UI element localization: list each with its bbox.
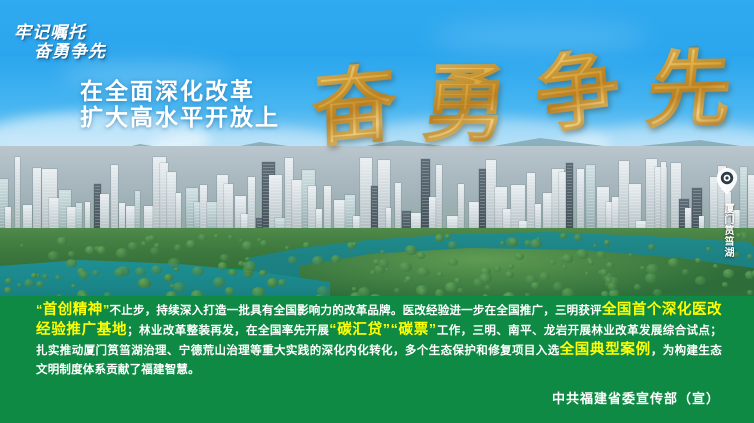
tree [500, 241, 505, 245]
copy-highlight-5: 全国典型案例 [560, 342, 651, 358]
calligraphy-char-2: 勇 [419, 62, 512, 146]
signature: 中共福建省委宣传部（宣） [552, 388, 720, 407]
tree [128, 242, 138, 250]
copy-highlight-1: 首创精神 [43, 302, 103, 318]
tree [435, 234, 444, 242]
tree [604, 240, 610, 245]
map-pin-icon [716, 168, 738, 194]
tree [445, 234, 450, 239]
tree [97, 246, 106, 254]
quote-close: ” [103, 302, 110, 317]
tree [198, 234, 207, 241]
tree [57, 237, 67, 245]
tree [509, 238, 518, 246]
copy-highlight-4: “碳票” [391, 322, 437, 338]
tree [648, 244, 655, 250]
building [566, 163, 573, 238]
tree [154, 243, 160, 248]
calligraphy-char-4: 先 [643, 47, 736, 133]
headline-line1: 在全面深化改革 [80, 78, 280, 104]
tree [593, 244, 597, 248]
tree [380, 250, 385, 254]
calligraphy-char-1: 奋 [312, 60, 397, 152]
location-label: 厦门筼筜湖 [721, 203, 733, 258]
location-marker: 厦门筼筜湖 [714, 168, 740, 263]
calligraphy-title: 奋 勇 争 先 [309, 30, 734, 163]
tree [560, 233, 567, 239]
building [15, 157, 20, 238]
slogan-badge-line1: 牢记嘱托 [14, 24, 134, 41]
headline: 在全面深化改革 扩大高水平开放上 [80, 78, 280, 130]
tree [574, 234, 582, 241]
slogan-badge-line2: 奋勇争先 [34, 43, 134, 60]
quote-open: “ [36, 302, 43, 317]
tree [242, 241, 253, 250]
building [619, 161, 629, 238]
tree [148, 235, 156, 241]
poster-root: 牢记嘱托 奋勇争先 在全面深化改革 扩大高水平开放上 奋 勇 争 先 厦门筼筜湖… [0, 0, 754, 423]
headline-line2: 扩大高水平开放上 [80, 104, 280, 130]
copy-segment-2: 不止步，持续深入打造一批具有全国影响力的改革品牌。医改经验进一步在全国推广，三明… [110, 305, 602, 317]
calligraphy-char-3: 争 [533, 45, 623, 139]
building [661, 162, 666, 238]
body-copy: “首创精神”不止步，持续深入打造一批具有全国影响力的改革品牌。医改经验进一步在全… [36, 300, 722, 380]
tree [174, 244, 182, 251]
tree [228, 235, 233, 239]
tree [448, 241, 457, 249]
slogan-badge: 牢记嘱托 奋勇争先 [14, 24, 134, 60]
copy-segment-4: ；林业改革整装再发，在全国率先开展 [127, 325, 329, 337]
copy-highlight-3: “碳汇贷” [329, 322, 390, 338]
tree [706, 247, 711, 251]
tree [186, 240, 196, 248]
tree [530, 239, 542, 248]
tree [285, 246, 289, 250]
